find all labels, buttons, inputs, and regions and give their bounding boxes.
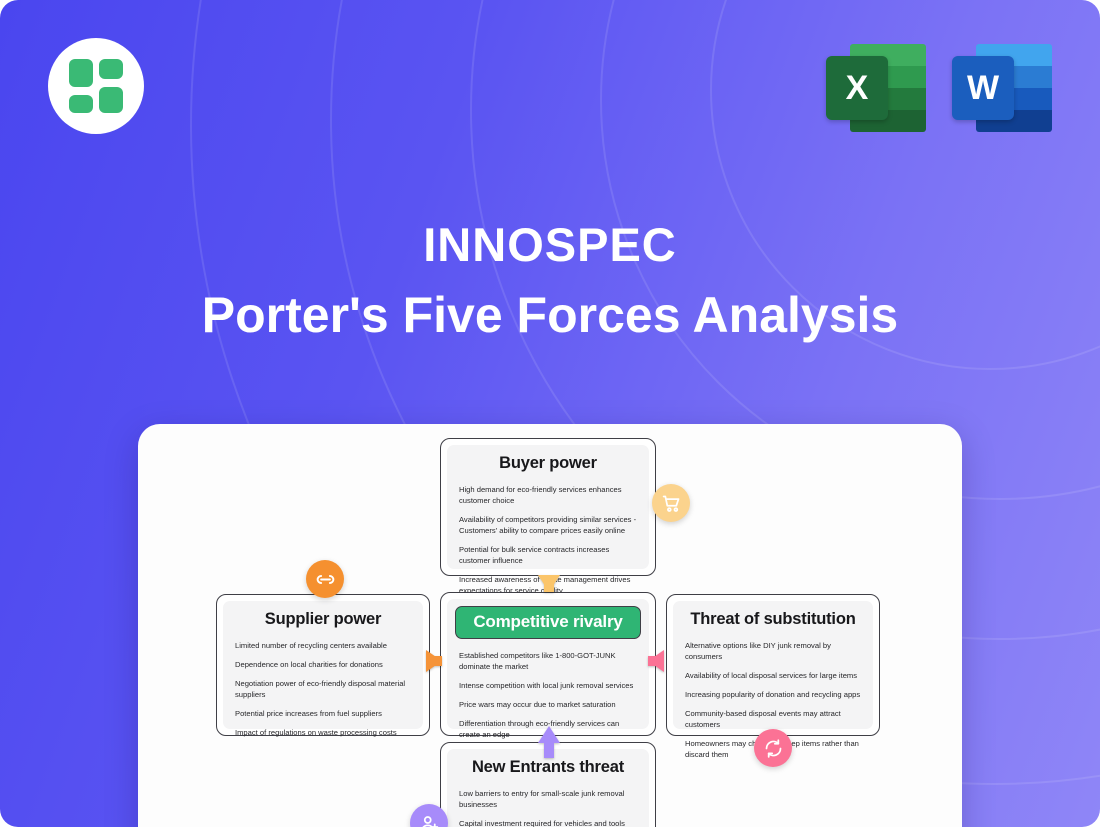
logo-square-bottom-left (69, 95, 93, 113)
force-points-supplier: Limited number of recycling centers avai… (235, 640, 411, 738)
list-item: Availability of local disposal services … (685, 670, 861, 681)
poster-root: X W INNOSPEC Porter's Five Forces Analys… (0, 0, 1100, 827)
list-item: Established competitors like 1-800-GOT-J… (459, 650, 637, 672)
list-item: Availability of competitors providing si… (459, 514, 637, 536)
force-box-buyer-power[interactable]: Buyer power High demand for eco-friendly… (440, 438, 656, 576)
arrow-buyer-to-rivalry (538, 575, 560, 592)
title-block: INNOSPEC Porter's Five Forces Analysis (0, 218, 1100, 347)
list-item: Limited number of recycling centers avai… (235, 640, 411, 651)
force-points-entrants: Low barriers to entry for small-scale ju… (459, 788, 637, 827)
list-item: Increasing popularity of donation and re… (685, 689, 861, 700)
list-item: High demand for eco-friendly services en… (459, 484, 637, 506)
excel-icon[interactable]: X (826, 44, 926, 132)
refresh-recycle-icon (754, 729, 792, 767)
list-item: Low barriers to entry for small-scale ju… (459, 788, 637, 810)
list-item: Intense competition with local junk remo… (459, 680, 637, 691)
force-title-entrants: New Entrants threat (459, 758, 637, 777)
page-title: Porter's Five Forces Analysis (0, 284, 1100, 347)
force-box-supplier-power[interactable]: Supplier power Limited number of recycli… (216, 594, 430, 736)
force-title-supplier: Supplier power (235, 610, 411, 629)
logo-square-top-right (99, 59, 123, 79)
list-item: Capital investment required for vehicles… (459, 818, 637, 827)
list-item: Alternative options like DIY junk remova… (685, 640, 861, 662)
list-item: Negotiation power of eco-friendly dispos… (235, 678, 411, 700)
list-item: Dependence on local charities for donati… (235, 659, 411, 670)
list-item: Community-based disposal events may attr… (685, 708, 861, 730)
excel-letter: X (826, 56, 888, 120)
force-inner-entrants: New Entrants threat Low barriers to entr… (447, 749, 649, 827)
list-item: Impact of regulations on waste processin… (235, 727, 411, 738)
word-letter: W (952, 56, 1014, 120)
top-bar: X W (0, 0, 1100, 140)
force-box-threat-of-substitution[interactable]: Threat of substitution Alternative optio… (666, 594, 880, 736)
innospec-logo (48, 38, 144, 134)
force-title-buyer: Buyer power (459, 454, 637, 473)
force-box-competitive-rivalry[interactable]: Competitive rivalry Established competit… (440, 592, 656, 736)
force-title-substitution: Threat of substitution (685, 610, 861, 629)
list-item: Potential price increases from fuel supp… (235, 708, 411, 719)
shopping-cart-icon (652, 484, 690, 522)
link-chain-icon (306, 560, 344, 598)
arrow-entrants-to-rivalry (538, 726, 560, 743)
logo-square-top-left (69, 59, 93, 87)
force-title-rivalry: Competitive rivalry (455, 606, 641, 639)
logo-square-bottom-right (99, 87, 123, 113)
force-inner-rivalry: Competitive rivalry Established competit… (447, 599, 649, 729)
list-item: Potential for bulk service contracts inc… (459, 544, 637, 566)
company-name: INNOSPEC (0, 218, 1100, 272)
force-inner-buyer: Buyer power High demand for eco-friendly… (447, 445, 649, 569)
office-icon-group: X W (826, 38, 1052, 132)
word-icon[interactable]: W (952, 44, 1052, 132)
list-item: Price wars may occur due to market satur… (459, 699, 637, 710)
diagram-card: Buyer power High demand for eco-friendly… (138, 424, 962, 827)
force-inner-substitution: Threat of substitution Alternative optio… (673, 601, 873, 729)
arrow-supplier-to-rivalry (426, 650, 442, 672)
porters-five-forces-diagram: Buyer power High demand for eco-friendly… (138, 424, 962, 827)
arrow-substitution-to-rivalry (648, 650, 664, 672)
force-inner-supplier: Supplier power Limited number of recycli… (223, 601, 423, 729)
